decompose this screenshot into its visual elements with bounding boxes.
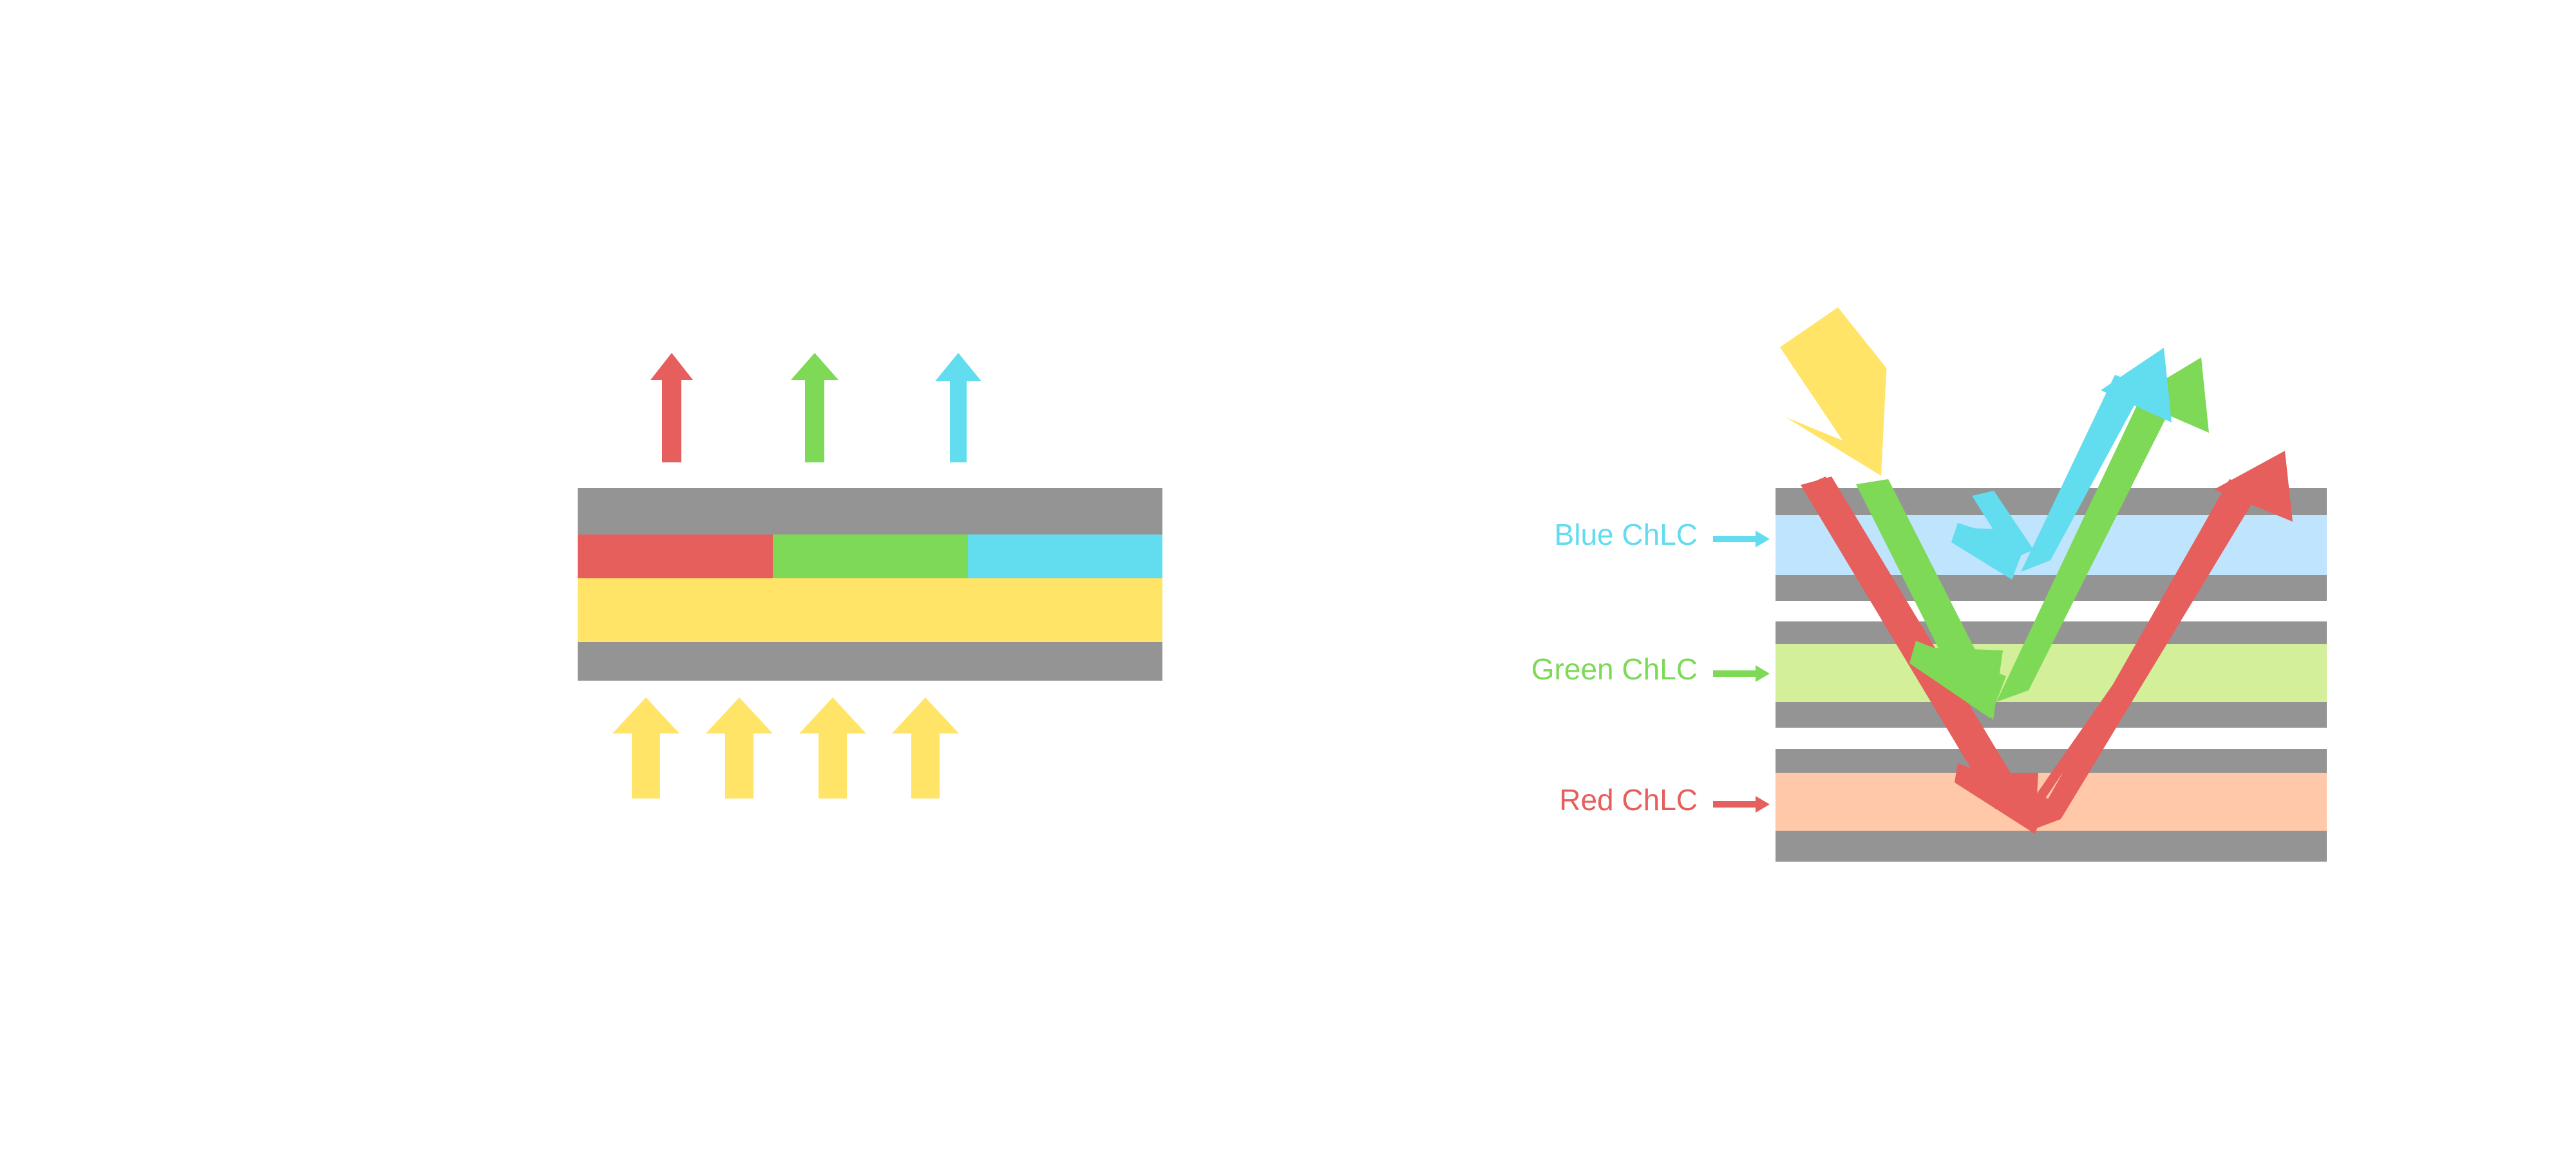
- left-layer-filter-green: [773, 534, 968, 578]
- diagram-svg: Blue ChLC Green ChLC Red ChLC: [0, 0, 2576, 1154]
- left-panel: [578, 353, 1162, 799]
- right-layer-red-bottom-substrate: [1776, 831, 2327, 862]
- right-layer-green-chlc: [1776, 644, 2327, 702]
- emitted-arrow-green: [791, 353, 838, 462]
- left-layer-bottom-electrode: [578, 642, 1162, 681]
- figure-canvas: Blue ChLC Green ChLC Red ChLC: [0, 0, 2576, 1154]
- label-red-chlc-text: Red ChLC: [1559, 783, 1698, 817]
- emitted-arrow-cyan: [935, 353, 981, 462]
- backlight-arrow-4: [892, 697, 959, 799]
- label-red-chlc-arrow-icon: [1713, 796, 1770, 813]
- label-blue-chlc-arrow-icon: [1713, 531, 1770, 547]
- backlight-arrow-2: [706, 697, 773, 799]
- incident-light-arrow: [1768, 302, 1898, 476]
- left-layer-top-electrode: [578, 488, 1162, 534]
- left-layer-filter-blue: [968, 534, 1162, 578]
- label-green-chlc-arrow-icon: [1713, 665, 1770, 682]
- label-green-chlc: Green ChLC: [1531, 652, 1770, 686]
- label-blue-chlc-text: Blue ChLC: [1555, 518, 1698, 551]
- backlight-arrow-1: [612, 697, 679, 799]
- emitted-arrow-red: [650, 353, 693, 462]
- right-layer-green-bottom-substrate: [1776, 702, 2327, 728]
- backlight-arrow-3: [799, 697, 866, 799]
- left-layer-backlight: [578, 578, 1162, 642]
- label-red-chlc: Red ChLC: [1559, 783, 1770, 817]
- right-layer-red-top-substrate: [1776, 749, 2327, 773]
- left-layer-filter-red: [578, 534, 773, 578]
- label-green-chlc-text: Green ChLC: [1531, 652, 1698, 686]
- right-panel: Blue ChLC Green ChLC Red ChLC: [1531, 302, 2327, 862]
- label-blue-chlc: Blue ChLC: [1555, 518, 1770, 551]
